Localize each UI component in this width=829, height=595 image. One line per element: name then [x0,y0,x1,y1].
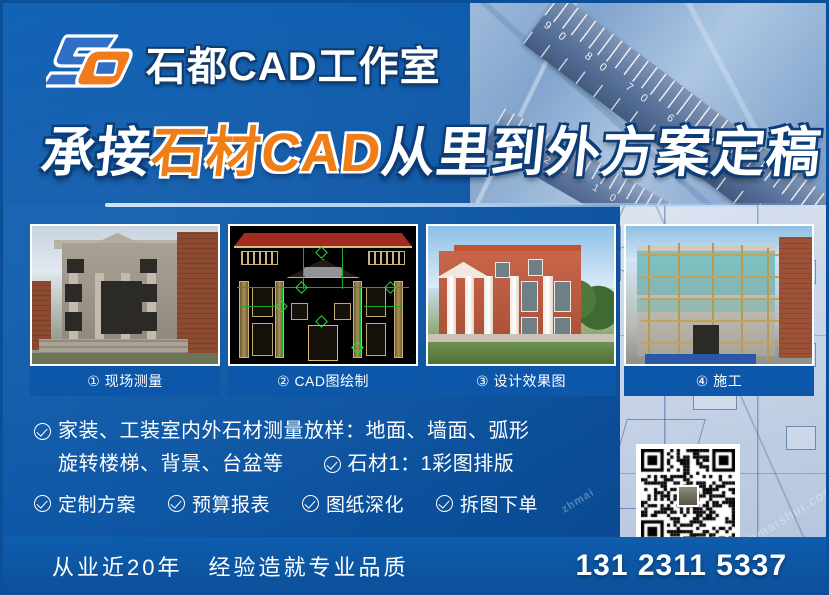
qr-pattern [641,449,735,543]
feature-text: 定制方案 [58,490,136,517]
feature-text: 石材1：1彩图排版 [348,451,515,478]
design-render-photo [426,224,616,366]
blueprint-window [786,426,816,450]
headline-highlight: 石材CAD [148,108,386,187]
process-step-caption: ② CAD图绘制 [228,366,418,396]
feature-item: 图纸深化 [302,490,404,517]
feature-item: 预算报表 [168,490,270,517]
site-measurement-photo [30,224,220,366]
process-photo-strip: ① 现场测量 [30,224,799,396]
wechat-qr-code[interactable] [636,444,740,548]
feature-text: 家装、工装室内外石材测量放样：地面、墙面、弧形 [58,418,530,445]
process-step-card[interactable]: ④ 施工 [624,224,814,396]
process-step-caption: ③ 设计效果图 [426,366,616,396]
feature-row: 旋转楼梯、背景、台盆等 石材1：1彩图排版 [34,451,634,478]
check-circle-icon [34,423,51,440]
check-circle-icon [436,495,453,512]
phone-number[interactable]: 131 2311 5337 [575,549,787,583]
feature-row: 定制方案 预算报表 图纸深化 拆图下单 [34,490,634,517]
construction-photo [624,224,814,366]
process-step-card[interactable]: ② CAD图绘制 [228,224,418,396]
advertisement-poster: 90 80 70 60 30 20 10 1500 zhmaishui.com … [0,0,829,595]
process-step-caption: ④ 施工 [624,366,814,396]
feature-item: 石材1：1彩图排版 [324,451,515,478]
check-circle-icon [34,495,51,512]
brand-name: 石都CAD工作室 [146,34,441,92]
check-circle-icon [302,495,319,512]
footer-slogan: 从业近20年经验造就专业品质 [52,550,409,582]
headline: 承接石材CAD从里到外方案定稿 [42,108,822,187]
feature-text: 预算报表 [192,490,270,517]
headline-part2: 从里到外方案定稿 [378,108,826,187]
sd-monogram-icon [46,30,138,92]
check-circle-icon [324,456,341,473]
cad-drawing-photo [228,224,418,366]
process-step-card[interactable]: ① 现场测量 [30,224,220,396]
feature-text: 拆图下单 [460,490,538,517]
check-circle-icon [168,495,185,512]
headline-divider [105,203,805,207]
process-step-caption: ① 现场测量 [30,366,220,396]
slogan-part2: 经验造就专业品质 [208,555,408,580]
headline-part1: 承接 [38,108,156,187]
feature-row: 家装、工装室内外石材测量放样：地面、墙面、弧形 [34,418,634,445]
slogan-part1: 从业近20年 [52,555,182,580]
feature-text: 旋转楼梯、背景、台盆等 [58,451,284,478]
qr-center-logo [677,485,699,507]
poster-header: 石都CAD工作室 [0,28,829,100]
feature-item: 定制方案 [34,490,136,517]
feature-item: 拆图下单 [436,490,538,517]
poster-footer: 从业近20年经验造就专业品质 131 2311 5337 [0,537,829,595]
feature-text: 图纸深化 [326,490,404,517]
process-step-card[interactable]: ③ 设计效果图 [426,224,616,396]
feature-list: 家装、工装室内外石材测量放样：地面、墙面、弧形 旋转楼梯、背景、台盆等 石材1：… [34,418,634,523]
